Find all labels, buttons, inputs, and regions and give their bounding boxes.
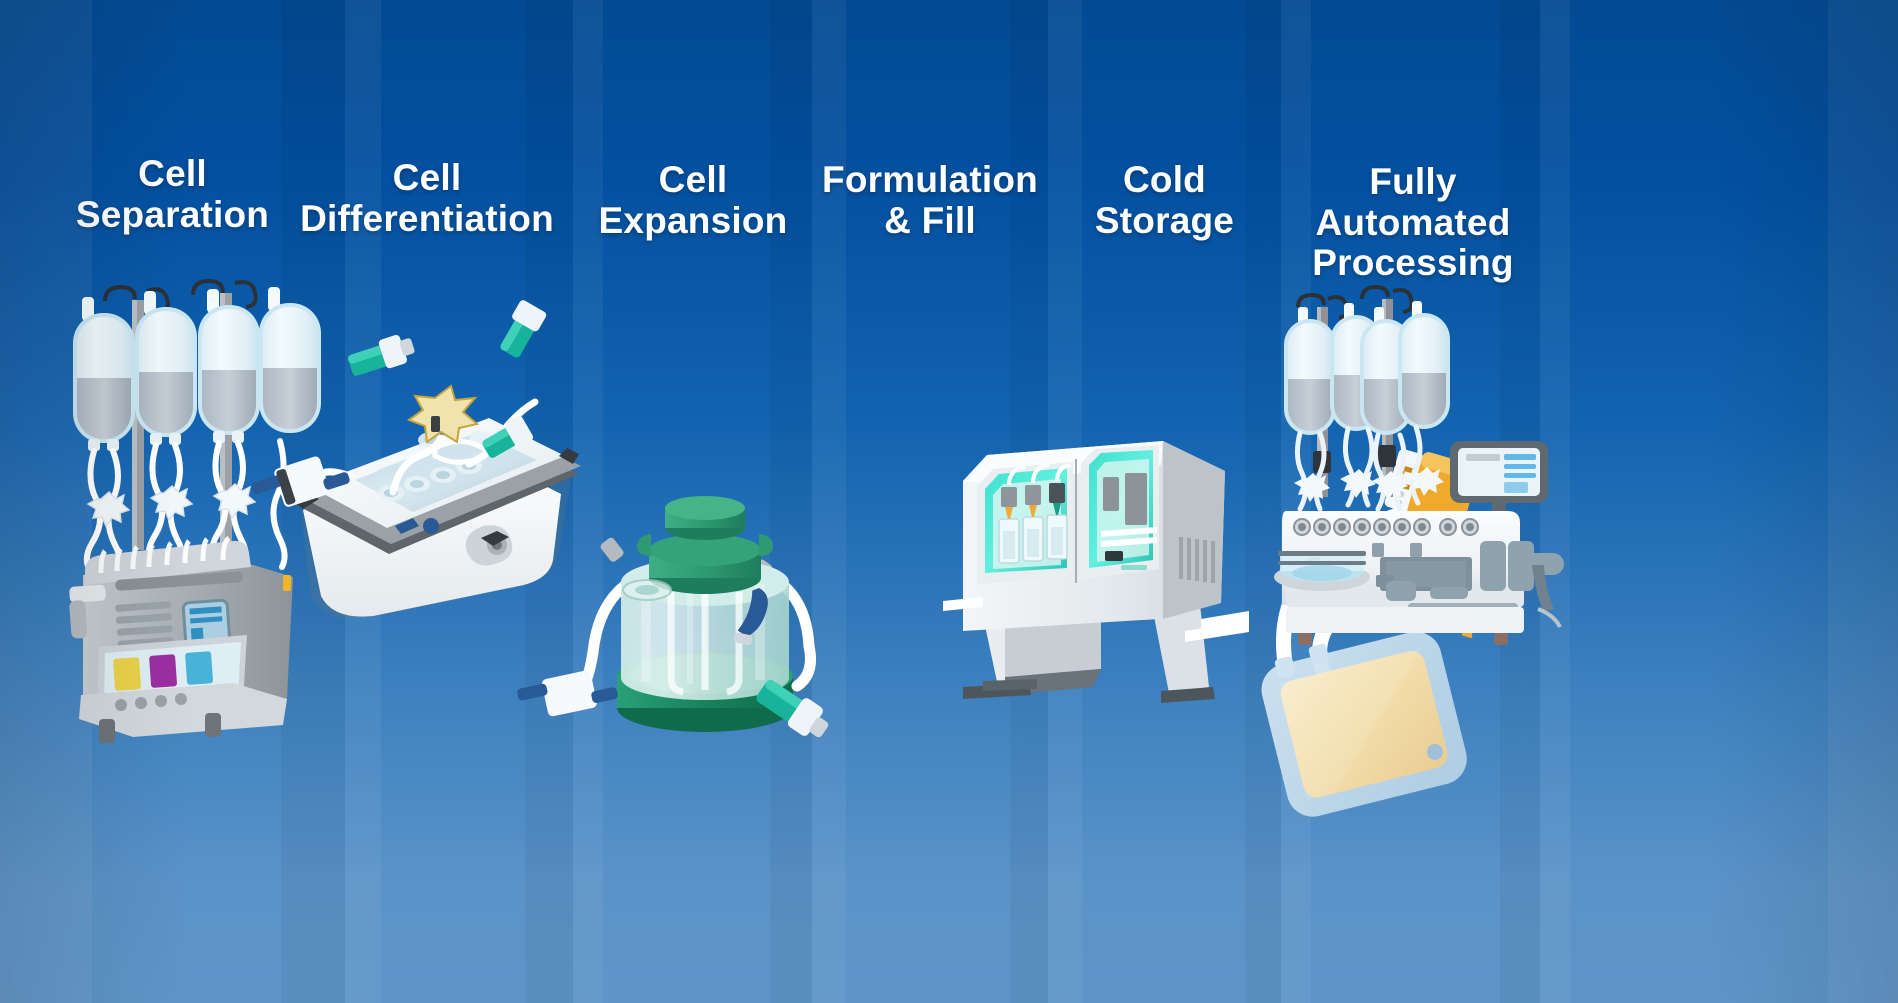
- blood-bag: [1284, 307, 1336, 435]
- label-cell-expansion: Cell Expansion: [573, 160, 813, 241]
- blood-bag: [135, 291, 197, 445]
- art-automated-workstation: [1280, 285, 1580, 625]
- label-cold-storage: Cold Storage: [1048, 160, 1281, 241]
- blood-bag: [1398, 301, 1450, 429]
- centrifuge-bowl: [1274, 551, 1370, 591]
- blood-bag: [73, 297, 135, 451]
- label-formulation-fill: Formulation & Fill: [812, 160, 1048, 241]
- port-row: [1294, 519, 1478, 535]
- blood-bag: [198, 289, 260, 443]
- bioreactor-illustration-svg: [555, 480, 855, 750]
- tray-illustration-svg: [285, 330, 585, 630]
- art-bioreactor: [555, 480, 855, 750]
- column-cold-storage: Cold Storage: [1048, 0, 1281, 1003]
- workstation-svg: [1280, 285, 1580, 625]
- art-cell-processing-tray: [285, 330, 585, 630]
- apheresis-console: [69, 538, 293, 743]
- workstation-monitor: [1450, 441, 1548, 513]
- label-cell-differentiation: Cell Differentiation: [281, 158, 573, 239]
- workstation-body: [1274, 511, 1534, 645]
- label-fully-automated-processing: Fully Automated Processing: [1281, 162, 1545, 284]
- apheresis-illustration-svg: [55, 275, 315, 715]
- blood-bag-group: [1284, 301, 1450, 435]
- teal-connector: [345, 331, 417, 380]
- art-apheresis-machine: [55, 275, 315, 715]
- infographic-canvas: Cell Separation: [0, 0, 1898, 1003]
